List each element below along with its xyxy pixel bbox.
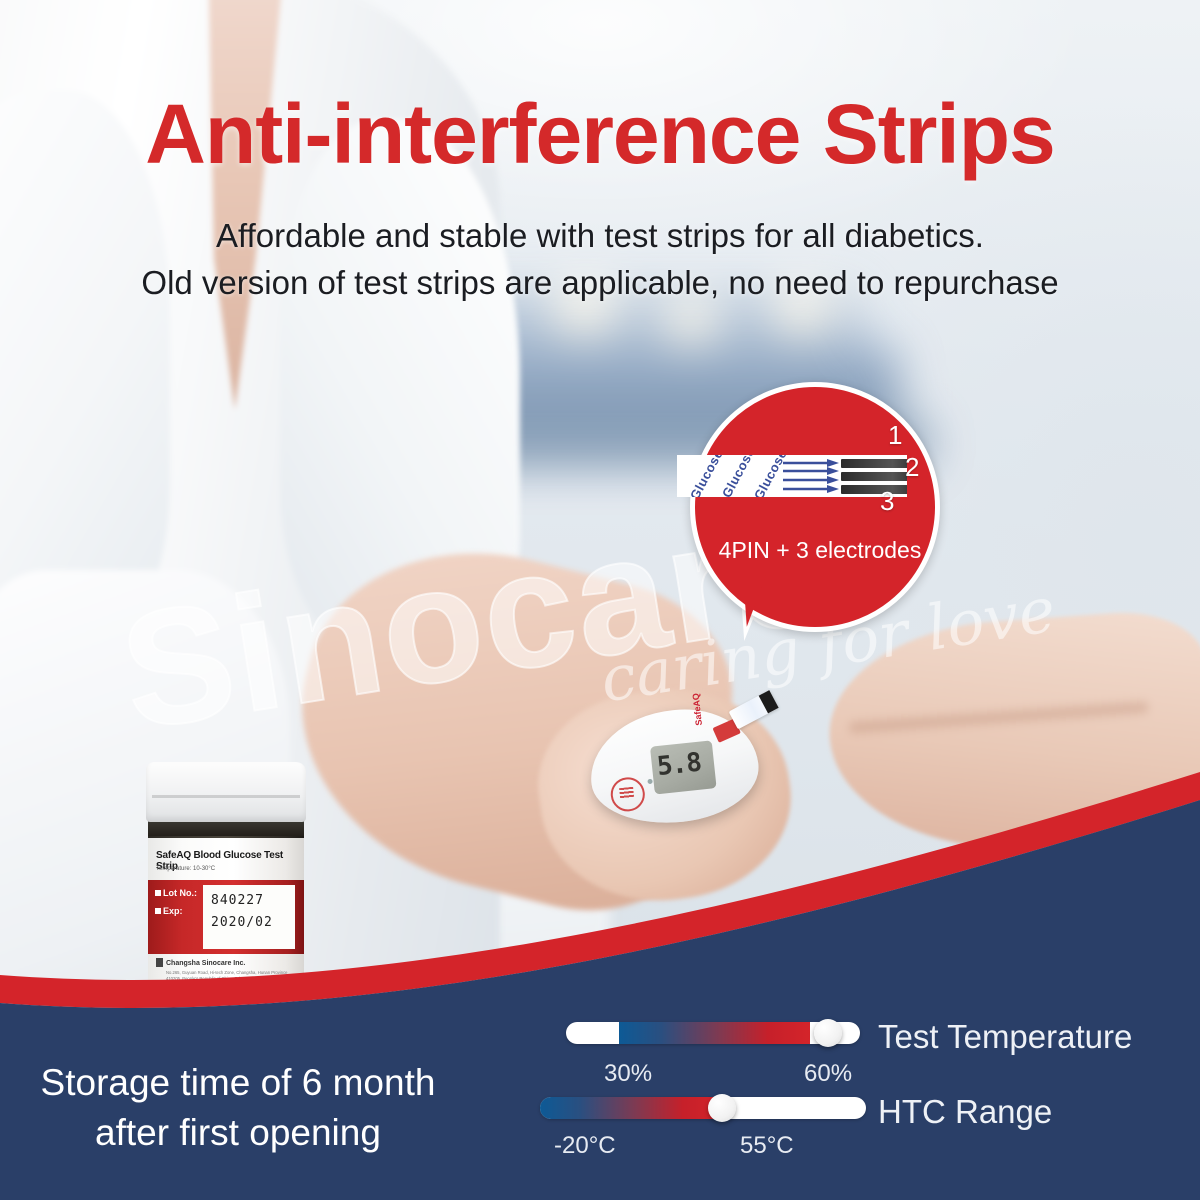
slider-test-temperature[interactable]: Test Temperature — [566, 1022, 860, 1044]
slider-thumb-1[interactable] — [814, 1019, 842, 1047]
slider-label-1: Test Temperature — [878, 1018, 1132, 1056]
slider-fill-1 — [619, 1022, 810, 1044]
slider-1-min-value: 30% — [604, 1060, 652, 1088]
storage-note: Storage time of 6 month after first open… — [18, 1058, 458, 1158]
info-panel-content: Storage time of 6 month after first open… — [0, 0, 1200, 1200]
slider-2-max-value: 55°C — [740, 1132, 794, 1160]
slider-fill-2 — [540, 1097, 723, 1119]
product-poster: Sinocare caring for love Anti-interferen… — [0, 0, 1200, 1200]
slider-1-max-value: 60% — [804, 1060, 852, 1088]
slider-track-2[interactable] — [540, 1097, 866, 1119]
slider-2-min-value: -20°C — [554, 1132, 616, 1160]
storage-line-2: after first opening — [18, 1108, 458, 1158]
storage-line-1: Storage time of 6 month — [18, 1058, 458, 1108]
slider-thumb-2[interactable] — [708, 1094, 736, 1122]
slider-htc-range[interactable]: HTC Range — [540, 1097, 866, 1119]
slider-label-2: HTC Range — [878, 1093, 1052, 1131]
